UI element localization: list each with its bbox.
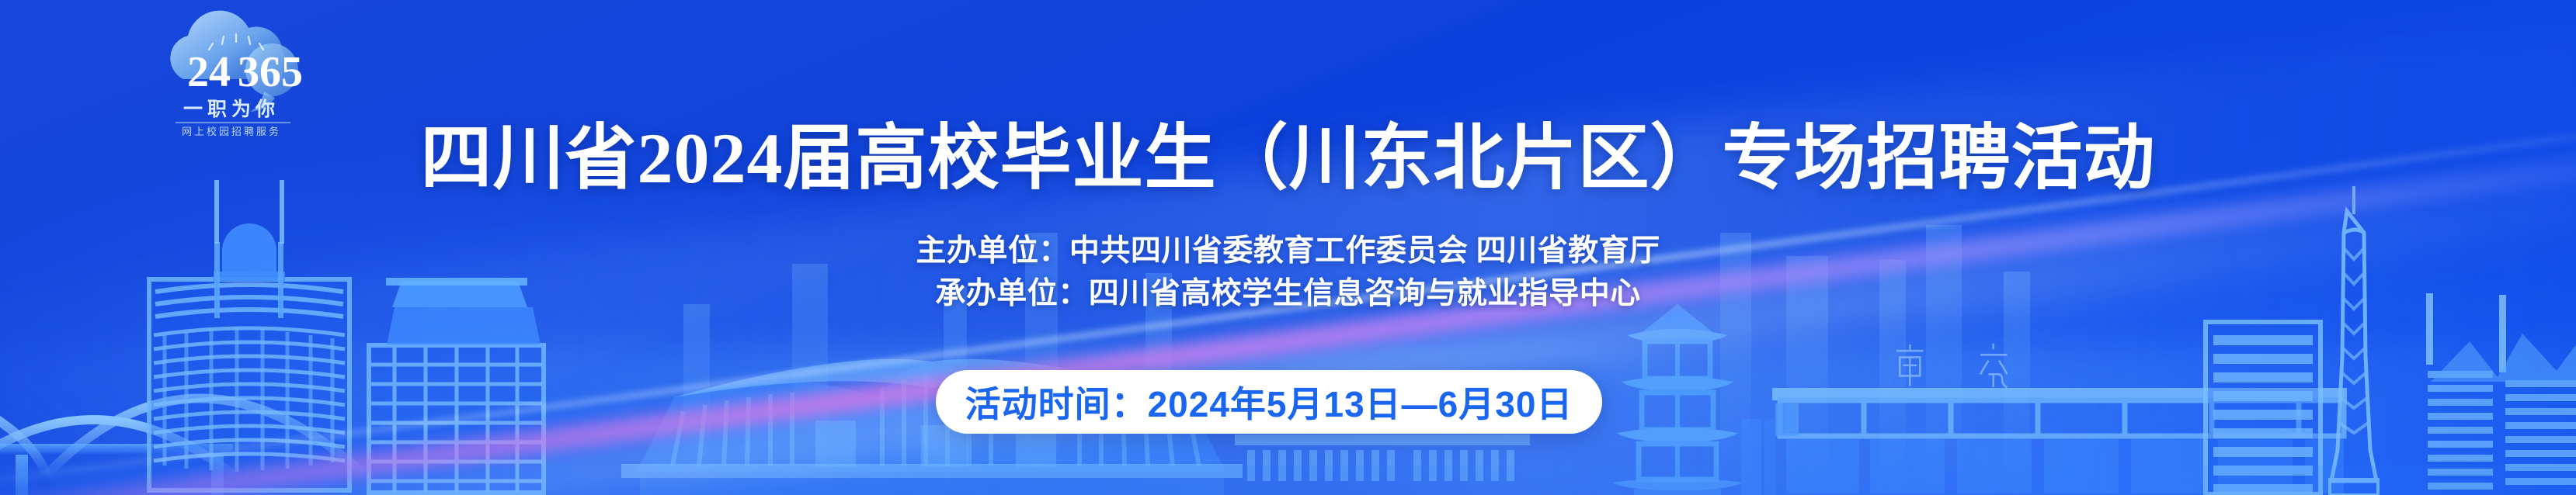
organizer-block: 主办单位：中共四川省委教育工作委员会 四川省教育厅 承办单位：四川省高校学生信息… — [0, 230, 2576, 316]
logo-number-left: 24 — [187, 48, 231, 96]
date-badge-text: 活动时间：2024年5月13日—6月30日 — [965, 376, 1573, 427]
logo-number-right: 365 — [238, 48, 303, 96]
logo-24365: 24 365 一职为你 网上校园招聘服务 — [138, 5, 325, 137]
organizer-line: 主办单位：中共四川省委教育工作委员会 四川省教育厅 — [0, 230, 2576, 272]
date-badge: 活动时间：2024年5月13日—6月30日 — [936, 370, 1602, 434]
recruitment-banner: 24 365 一职为你 网上校园招聘服务 四川省2024届高校毕业生（川东北片区… — [0, 0, 2576, 495]
banner-title: 四川省2024届高校毕业生（川东北片区）专场招聘活动 — [0, 123, 2576, 194]
logo-slogan: 一职为你 — [183, 99, 280, 120]
host-line: 承办单位：四川省高校学生信息咨询与就业指导中心 — [0, 272, 2576, 315]
